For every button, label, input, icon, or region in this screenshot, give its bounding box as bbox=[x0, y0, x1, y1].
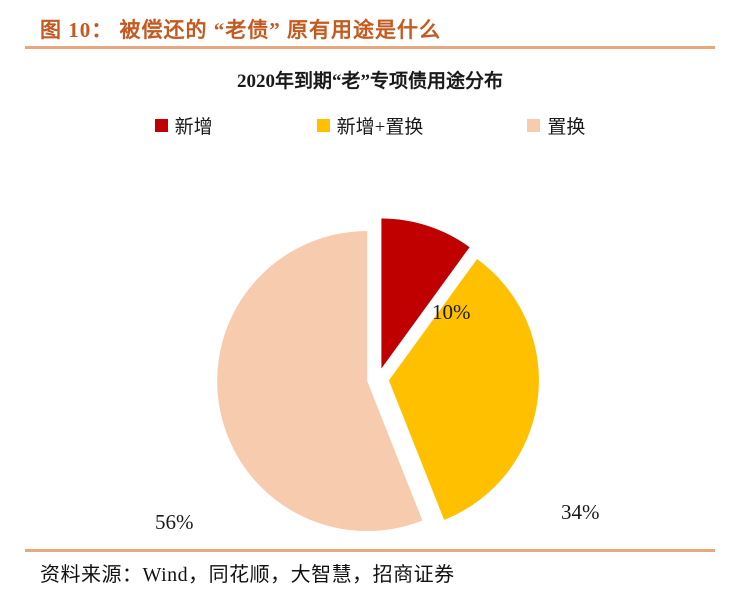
legend-label: 置换 bbox=[547, 112, 585, 139]
legend-label: 新增 bbox=[175, 112, 213, 139]
legend-item-new[interactable]: 新增 bbox=[155, 112, 213, 139]
pie-label-swap: 56% bbox=[155, 510, 194, 535]
legend-swatch-icon bbox=[155, 119, 168, 132]
chart-title: 2020年到期“老”专项债用途分布 bbox=[0, 66, 740, 93]
legend-swatch-icon bbox=[527, 119, 540, 132]
legend-item-new-plus-swap[interactable]: 新增+置换 bbox=[317, 112, 424, 139]
pie-svg bbox=[0, 147, 740, 547]
pie-label-new-plus-swap: 34% bbox=[561, 500, 600, 525]
source-note: 资料来源：Wind，同花顺，大智慧，招商证券 bbox=[40, 558, 455, 587]
pie-label-new: 10% bbox=[432, 300, 471, 325]
header-divider bbox=[25, 46, 715, 49]
footer-divider bbox=[25, 549, 715, 552]
chart-legend: 新增 新增+置换 置换 bbox=[0, 112, 740, 139]
figure-title: 图 10： 被偿还的 “老债” 原有用途是什么 bbox=[40, 14, 441, 44]
legend-swatch-icon bbox=[317, 119, 330, 132]
legend-item-swap[interactable]: 置换 bbox=[527, 112, 585, 139]
legend-label: 新增+置换 bbox=[337, 112, 424, 139]
pie-chart: 10% 34% 56% bbox=[0, 147, 740, 547]
chart-container: 2020年到期“老”专项债用途分布 新增 新增+置换 置换 bbox=[0, 52, 740, 547]
